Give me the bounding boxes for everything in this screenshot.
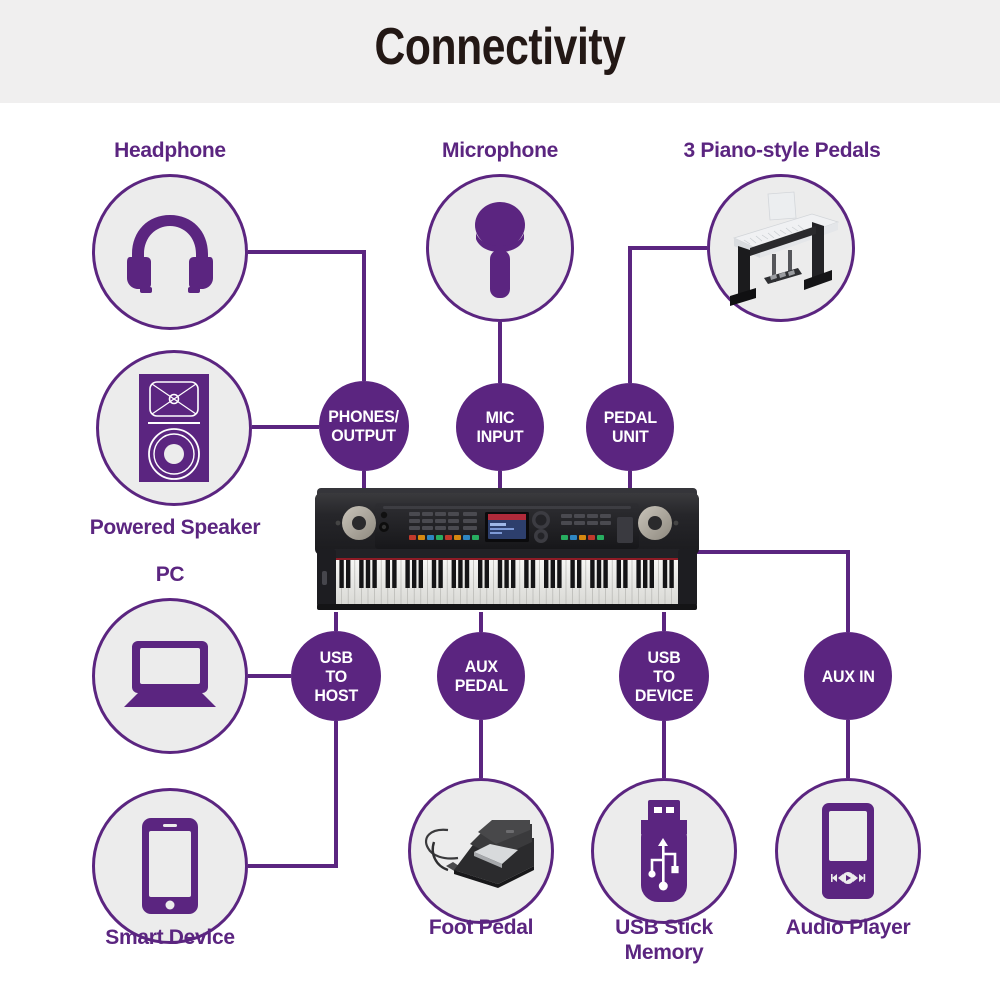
port-phones-output[interactable]: PHONES/OUTPUT	[319, 381, 409, 471]
device-label-headphone: Headphone	[55, 138, 285, 163]
wire-pedals-to-pedal-unit	[630, 248, 707, 383]
device-label-pc: PC	[90, 562, 250, 587]
device-bubble-audio-player[interactable]	[775, 778, 921, 924]
port-label-aux-pedal: AUXPEDAL	[454, 657, 507, 695]
foot-pedal-photo	[411, 781, 551, 921]
device-bubble-headphone[interactable]	[92, 174, 248, 330]
microphone-icon	[429, 177, 571, 319]
device-label-audio-player: Audio Player	[758, 915, 938, 940]
device-label-pedals: 3 Piano-style Pedals	[652, 138, 912, 163]
device-bubble-microphone[interactable]	[426, 174, 574, 322]
device-bubble-smart-device[interactable]	[92, 788, 248, 944]
port-label-usb-to-host: USBTOHOST	[314, 648, 358, 705]
port-label-pedal-unit: PEDALUNIT	[603, 408, 656, 446]
piano-stand-photo	[710, 177, 852, 319]
laptop-icon	[95, 601, 245, 751]
device-label-speaker: Powered Speaker	[44, 515, 306, 540]
port-aux-in[interactable]: AUX IN	[804, 632, 892, 720]
port-pedal-unit[interactable]: PEDALUNIT	[586, 383, 674, 471]
port-label-mic-input: MICINPUT	[476, 408, 523, 446]
device-label-foot-pedal: Foot Pedal	[381, 915, 581, 940]
device-bubble-speaker[interactable]	[96, 350, 252, 506]
device-bubble-pedals[interactable]	[707, 174, 855, 322]
wire-smart-device-to-usb-to-host	[248, 721, 336, 866]
device-label-smart-device: Smart Device	[55, 925, 285, 950]
audio-player-icon	[778, 781, 918, 921]
smartphone-icon	[95, 791, 245, 941]
wire-keyboard-to-aux-in	[690, 552, 848, 632]
port-usb-to-device[interactable]: USBTODEVICE	[619, 631, 709, 721]
port-aux-pedal[interactable]: AUXPEDAL	[437, 632, 525, 720]
usb-stick-icon	[594, 781, 734, 921]
port-label-phones-output: PHONES/OUTPUT	[329, 407, 400, 445]
connectivity-diagram: Connectivity	[0, 0, 1000, 1000]
digital-piano-keyboard: YAMAHA	[313, 487, 701, 613]
headphone-icon	[95, 177, 245, 327]
device-bubble-foot-pedal[interactable]	[408, 778, 554, 924]
port-mic-input[interactable]: MICINPUT	[456, 383, 544, 471]
port-usb-to-host[interactable]: USBTOHOST	[291, 631, 381, 721]
wire-headphone-to-phones-output	[248, 252, 364, 381]
device-bubble-pc[interactable]	[92, 598, 248, 754]
device-label-usb-stick: USB Stick Memory	[574, 915, 754, 965]
speaker-icon	[99, 353, 249, 503]
port-label-usb-to-device: USBTODEVICE	[635, 648, 693, 705]
port-label-aux-in: AUX IN	[821, 667, 874, 686]
device-label-microphone: Microphone	[385, 138, 615, 163]
device-bubble-usb-stick[interactable]	[591, 778, 737, 924]
